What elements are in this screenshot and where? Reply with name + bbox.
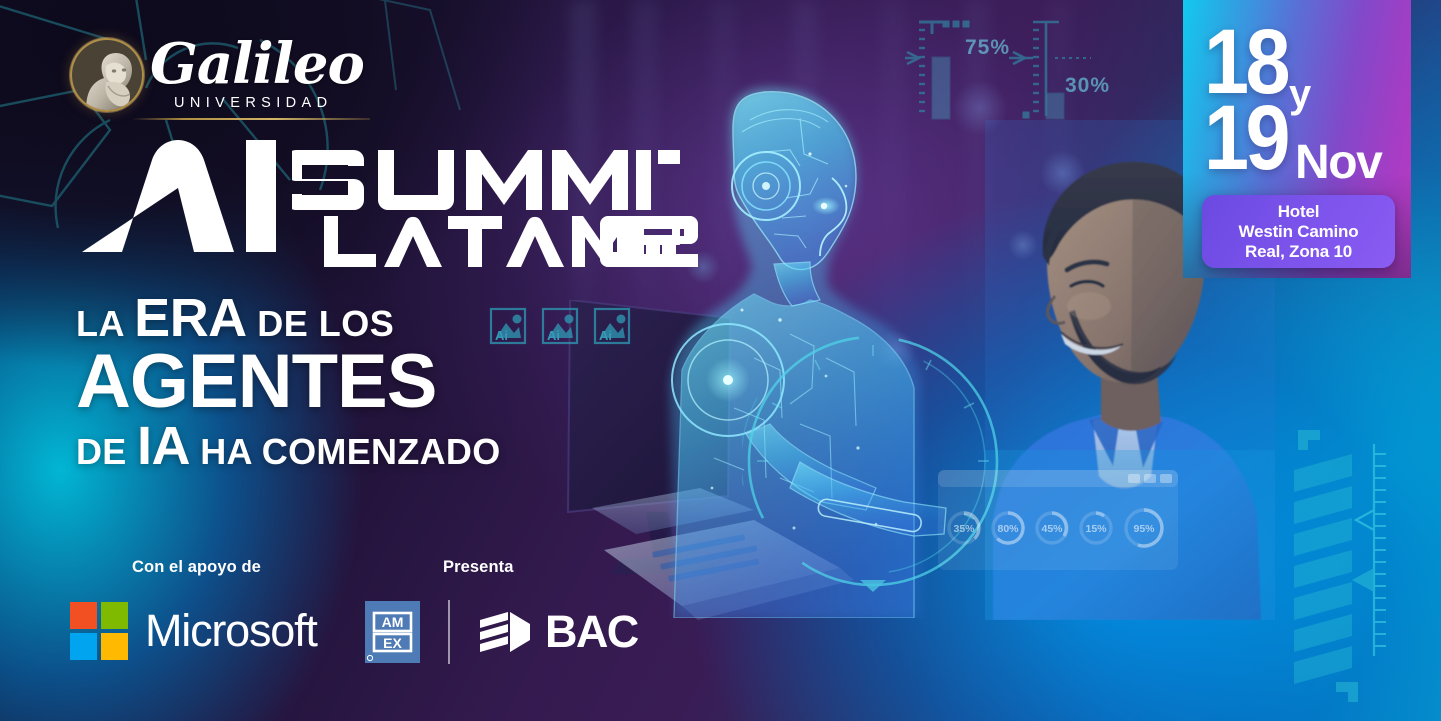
title-summit <box>292 138 680 217</box>
bac-name: BAC <box>545 609 638 655</box>
tagline-ia: IA <box>137 416 190 476</box>
logo-divider <box>132 118 370 120</box>
venue-line-3: Real, Zona 10 <box>1245 242 1352 262</box>
gauge-right-value: 30% <box>1065 74 1110 97</box>
hud-bar-gauges: 75% 30% <box>905 8 1155 143</box>
tagline-ha-comenzado: HA COMENZADO <box>200 431 500 472</box>
date-month: Nov <box>1295 139 1381 187</box>
amex-line-2: EX <box>383 635 402 651</box>
microsoft-name: Microsoft <box>145 608 317 654</box>
hud-dashboard-panel: 35% 80% 45% 15% 95% <box>938 470 1178 570</box>
tagline-de: DE <box>76 431 127 472</box>
tagline-line-3: DE IA HA COMENZADO <box>76 422 676 476</box>
venue-line-1: Hotel <box>1278 202 1320 222</box>
gauge-left-value: 75% <box>965 36 1010 59</box>
ring-value: 80% <box>997 523 1019 535</box>
ring-value: 95% <box>1133 523 1155 535</box>
microsoft-logo: Microsoft <box>70 602 317 660</box>
title-ai <box>74 126 279 254</box>
venue-line-2: Westin Camino <box>1239 222 1359 242</box>
tagline-de-los: DE LOS <box>257 303 394 344</box>
galileo-bust-icon <box>70 38 144 112</box>
ring-value: 35% <box>953 523 975 535</box>
galileo-university-logo: Galileo UNIVERSIDAD <box>70 32 370 124</box>
support-label: Con el apoyo de <box>132 558 261 577</box>
date-day-second: 19 <box>1204 98 1287 178</box>
university-subtitle: UNIVERSIDAD <box>174 95 333 111</box>
bac-logo-icon <box>478 606 534 658</box>
date-conjunction: y <box>1289 74 1311 114</box>
tagline-la: LA <box>76 303 124 344</box>
tagline-line-2: AGENTES <box>76 344 676 420</box>
payment-sponsors: AM EX BAC <box>365 600 638 664</box>
sponsors-section: Con el apoyo de Presenta Microsoft A <box>70 558 670 678</box>
right-edge-decoration <box>1290 420 1420 710</box>
event-title <box>74 132 674 272</box>
ai-summit-banner: 75% 30% Ai Ai Ai <box>0 0 1441 721</box>
sponsor-divider <box>448 600 450 664</box>
title-year-end <box>622 210 686 277</box>
university-name: Galileo <box>150 34 364 94</box>
amex-logo-icon: AM EX <box>365 601 420 663</box>
amex-line-1: AM <box>382 614 404 630</box>
ring-value: 15% <box>1085 523 1107 535</box>
bac-logo: BAC <box>478 606 638 658</box>
venue-badge: Hotel Westin Camino Real, Zona 10 <box>1202 195 1395 268</box>
date-panel: 18 y 19 Nov Hotel Westin Camino Real, Zo… <box>1183 0 1411 278</box>
presents-label: Presenta <box>443 558 514 577</box>
microsoft-squares-icon <box>70 602 128 660</box>
ring-value: 45% <box>1041 523 1063 535</box>
event-tagline: LA ERA DE LOS AGENTES DE IA HA COMENZADO <box>76 296 676 476</box>
